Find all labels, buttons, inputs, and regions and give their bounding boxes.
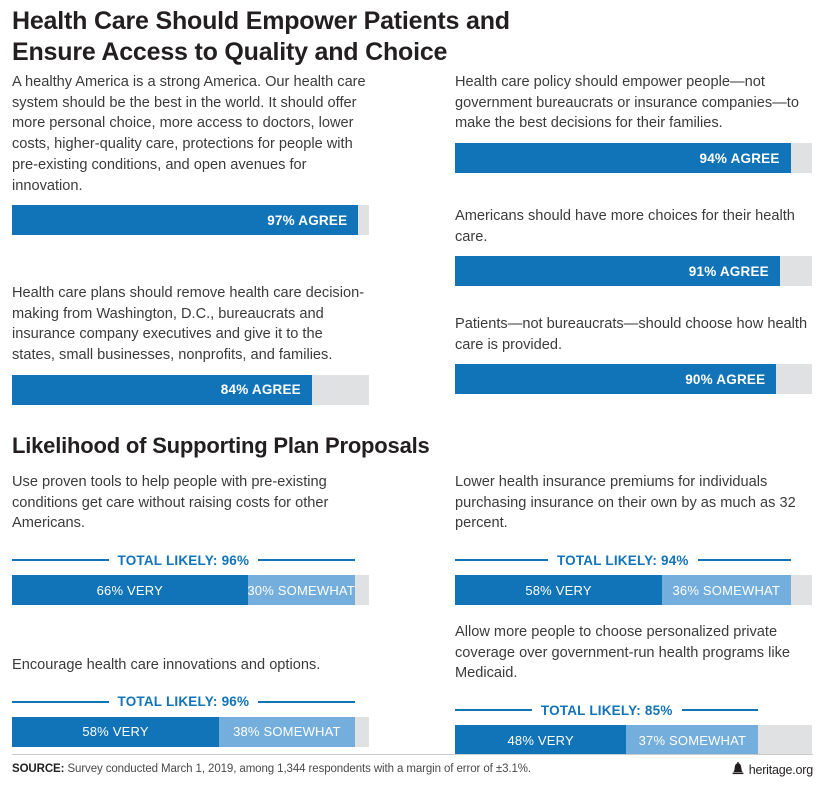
- total-likely-row: TOTAL LIKELY: 94%: [455, 550, 812, 570]
- statement-text: Health care policy should empower people…: [455, 72, 800, 134]
- agree-block-5: Patients—not bureaucrats—should choose h…: [455, 314, 812, 394]
- agree-block-1: A healthy America is a strong America. O…: [12, 72, 369, 235]
- segment-somewhat-label: 38% SOMEWHAT: [233, 724, 341, 739]
- segment-very: 48% VERY: [455, 725, 626, 755]
- statement-text: Lower health insurance premiums for indi…: [455, 472, 812, 534]
- agree-bar-label: 91% AGREE: [689, 264, 780, 279]
- total-likely-row: TOTAL LIKELY: 96%: [12, 692, 369, 712]
- statement-text: A healthy America is a strong America. O…: [12, 72, 369, 196]
- likelihood-block-2: Encourage health care innovations and op…: [12, 655, 369, 747]
- segment-somewhat-label: 36% SOMEWHAT: [672, 583, 780, 598]
- segment-very-label: 48% VERY: [507, 733, 573, 748]
- agree-bar-label: 94% AGREE: [700, 151, 791, 166]
- agree-bar-label: 90% AGREE: [685, 372, 776, 387]
- rule-left: [12, 701, 109, 703]
- segment-very-label: 58% VERY: [525, 583, 591, 598]
- total-likely-row: TOTAL LIKELY: 85%: [455, 700, 812, 720]
- statement-text: Use proven tools to help people with pre…: [12, 472, 362, 534]
- likelihood-block-4: Allow more people to choose personalized…: [455, 622, 812, 755]
- agree-bar-track: 94% AGREE: [455, 143, 812, 173]
- agree-bar-label: 97% AGREE: [267, 213, 358, 228]
- segment-very: 58% VERY: [455, 575, 662, 605]
- total-likely-label: TOTAL LIKELY: 96%: [109, 694, 259, 709]
- total-likely-row: TOTAL LIKELY: 96%: [12, 550, 369, 570]
- statement-text: Allow more people to choose personalized…: [455, 622, 812, 684]
- segment-somewhat-label: 37% SOMEWHAT: [639, 733, 747, 748]
- agree-bar-track: 97% AGREE: [12, 205, 369, 235]
- agree-bar-fill: 97% AGREE: [12, 205, 358, 235]
- source-label: SOURCE:: [12, 763, 64, 775]
- total-likely-label: TOTAL LIKELY: 85%: [532, 703, 682, 718]
- agree-block-2: Health care plans should remove health c…: [12, 283, 369, 405]
- agree-bar-fill: 84% AGREE: [12, 375, 312, 405]
- agree-bar-label: 84% AGREE: [221, 382, 312, 397]
- statement-text: Patients—not bureaucrats—should choose h…: [455, 314, 812, 355]
- segment-very: 66% VERY: [12, 575, 248, 605]
- agree-block-4: Americans should have more choices for t…: [455, 206, 812, 286]
- agree-block-3: Health care policy should empower people…: [455, 72, 812, 173]
- segment-somewhat-label: 30% SOMEWHAT: [247, 583, 355, 598]
- agree-bar-fill: 90% AGREE: [455, 364, 776, 394]
- statement-text: Encourage health care innovations and op…: [12, 655, 369, 676]
- liberty-bell-icon: [732, 762, 744, 778]
- rule-left: [12, 559, 109, 561]
- likelihood-block-3: Lower health insurance premiums for indi…: [455, 472, 812, 605]
- rule-right: [258, 701, 355, 703]
- segment-somewhat: 38% SOMEWHAT: [219, 717, 355, 747]
- rule-right: [682, 709, 759, 711]
- statement-text: Health care plans should remove health c…: [12, 283, 369, 366]
- source-note: SOURCE: Survey conducted March 1, 2019, …: [12, 763, 531, 775]
- brand-label: heritage.org: [749, 763, 813, 777]
- segment-very: 58% VERY: [12, 717, 219, 747]
- footer-divider: [12, 754, 813, 755]
- infographic-page: Health Care Should Empower Patients and …: [0, 0, 825, 786]
- likelihood-bar-track: 48% VERY 37% SOMEWHAT: [455, 725, 812, 755]
- segment-somewhat: 30% SOMEWHAT: [248, 575, 355, 605]
- segment-somewhat: 37% SOMEWHAT: [626, 725, 758, 755]
- agree-bar-track: 84% AGREE: [12, 375, 369, 405]
- segment-somewhat: 36% SOMEWHAT: [662, 575, 791, 605]
- agree-bar-track: 91% AGREE: [455, 256, 812, 286]
- brand-credit[interactable]: heritage.org: [732, 762, 813, 778]
- rule-right: [258, 559, 355, 561]
- rule-left: [455, 709, 532, 711]
- section-title-likelihood: Likelihood of Supporting Plan Proposals: [12, 433, 430, 459]
- segment-very-label: 58% VERY: [82, 724, 148, 739]
- agree-bar-fill: 91% AGREE: [455, 256, 780, 286]
- likelihood-bar-track: 66% VERY 30% SOMEWHAT: [12, 575, 369, 605]
- rule-right: [698, 559, 791, 561]
- agree-bar-track: 90% AGREE: [455, 364, 812, 394]
- rule-left: [455, 559, 548, 561]
- total-likely-label: TOTAL LIKELY: 94%: [548, 553, 698, 568]
- likelihood-block-1: Use proven tools to help people with pre…: [12, 472, 369, 605]
- total-likely-label: TOTAL LIKELY: 96%: [109, 553, 259, 568]
- agree-bar-fill: 94% AGREE: [455, 143, 791, 173]
- statement-text: Americans should have more choices for t…: [455, 206, 812, 247]
- likelihood-bar-track: 58% VERY 38% SOMEWHAT: [12, 717, 369, 747]
- page-title: Health Care Should Empower Patients and …: [12, 6, 572, 67]
- likelihood-bar-track: 58% VERY 36% SOMEWHAT: [455, 575, 812, 605]
- segment-very-label: 66% VERY: [97, 583, 163, 598]
- source-text: Survey conducted March 1, 2019, among 1,…: [67, 763, 531, 775]
